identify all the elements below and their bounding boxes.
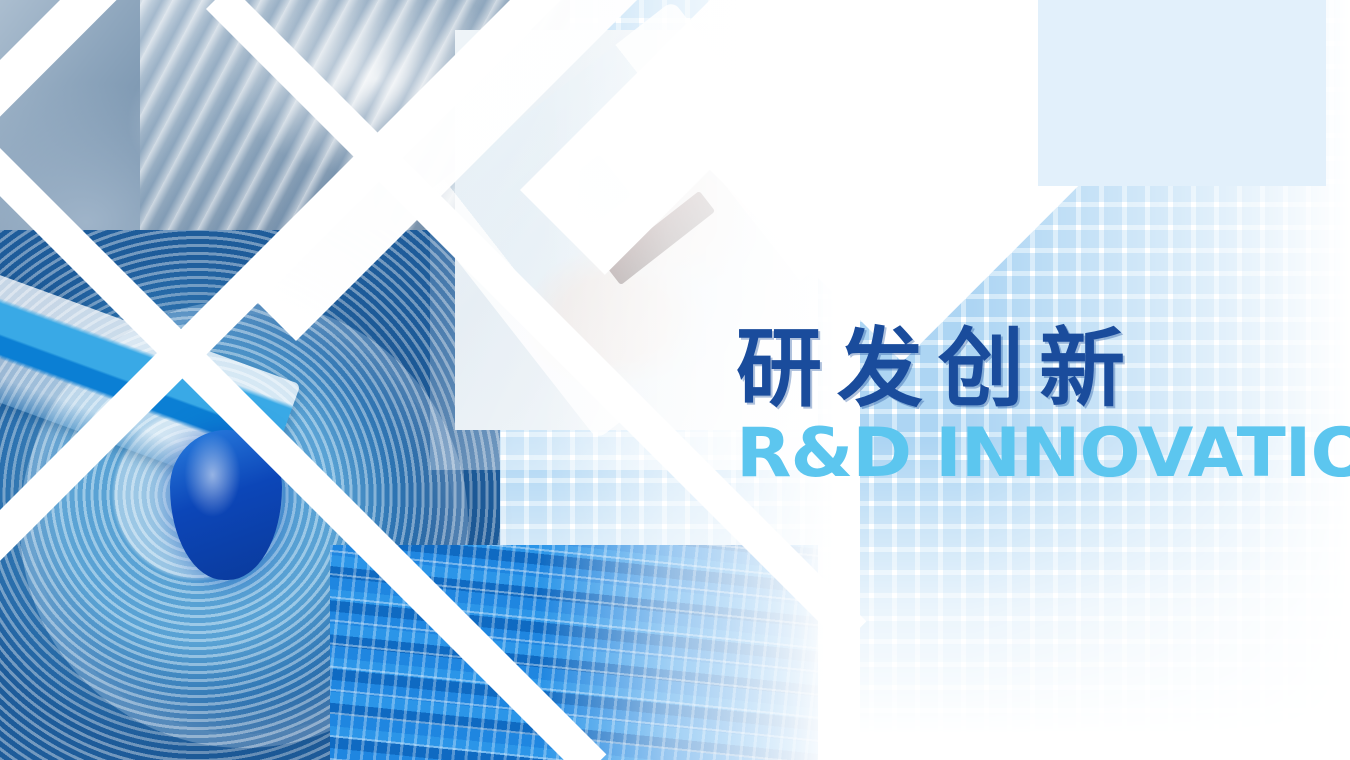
headline-block: 研发创新 R&D INNOVATION [736, 326, 1350, 488]
rd-innovation-banner: 恒瑞 研发创新 R&D INNOVATION [0, 0, 1350, 760]
hengrui-logo-panel: 恒瑞 [1038, 0, 1326, 186]
headline-title-cn: 研发创新 [736, 326, 1350, 414]
headline-title-en: R&D INNOVATION [736, 420, 1350, 488]
